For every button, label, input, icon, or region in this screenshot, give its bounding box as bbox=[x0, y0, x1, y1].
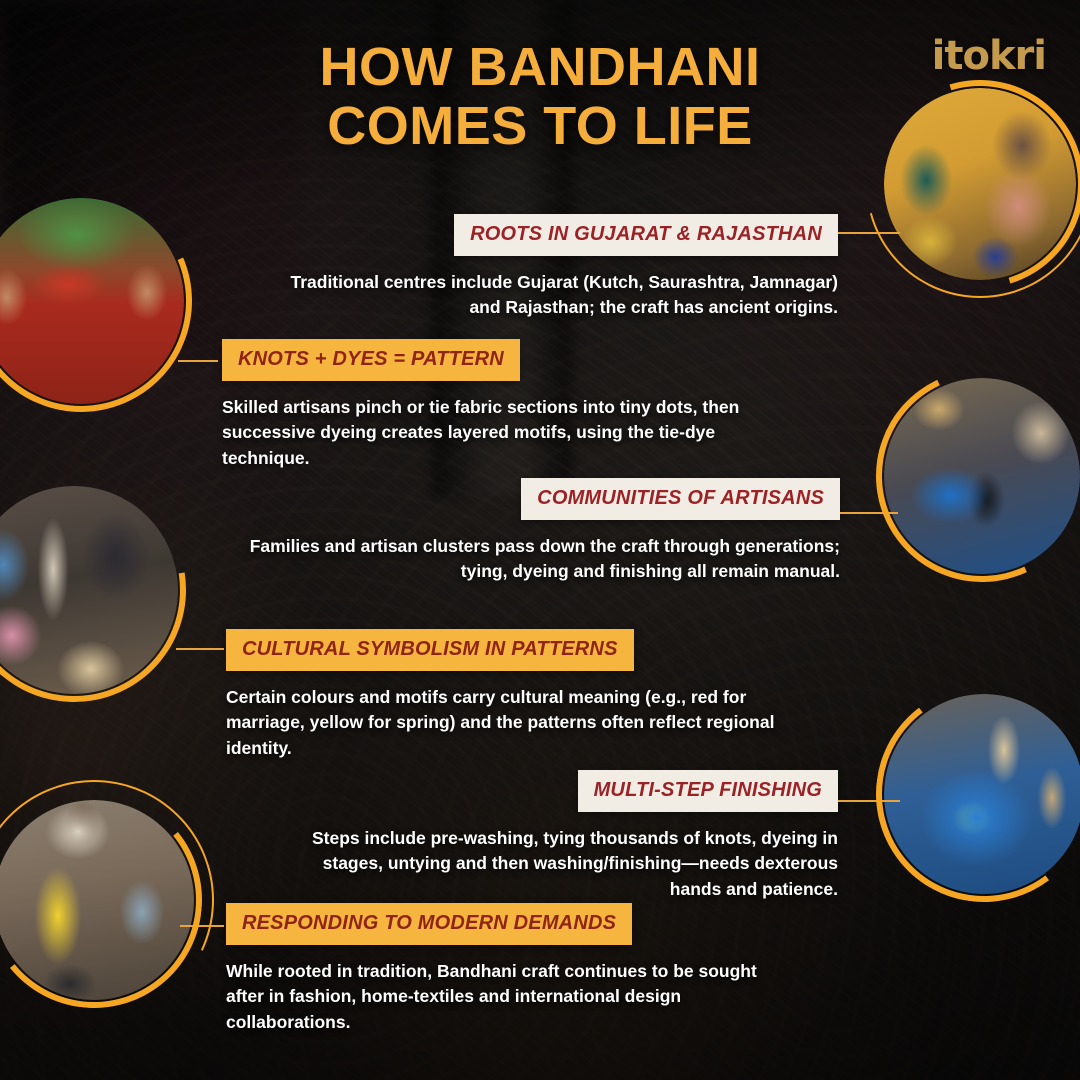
section-6-label[interactable]: RESPONDING TO MODERN DEMANDS bbox=[226, 903, 632, 945]
section-communities-of-artisans: COMMUNITIES OF ARTISANS Families and art… bbox=[240, 478, 840, 585]
women-tying-bandhani-image bbox=[884, 88, 1076, 280]
dyer-lifting-yellow-fabric-image bbox=[0, 800, 194, 1000]
section-4-label[interactable]: CULTURAL SYMBOLISM IN PATTERNS bbox=[226, 629, 634, 671]
dyer-lifting-yellow-fabric-photo bbox=[0, 800, 194, 1000]
section-1-label[interactable]: ROOTS IN GUJARAT & RAJASTHAN bbox=[454, 214, 838, 256]
section-3-body: Families and artisan clusters pass down … bbox=[240, 534, 840, 585]
connector-line-2 bbox=[178, 360, 218, 362]
dyer-blue-vat-photo bbox=[884, 378, 1080, 574]
section-roots-in-gujarat-rajasthan: ROOTS IN GUJARAT & RAJASTHAN Traditional… bbox=[258, 214, 838, 321]
women-tying-bandhani-photo bbox=[884, 88, 1076, 280]
section-1-body: Traditional centres include Gujarat (Kut… bbox=[258, 270, 838, 321]
blue-dye-vat-photo bbox=[884, 694, 1080, 894]
section-6-body: While rooted in tradition, Bandhani craf… bbox=[226, 959, 786, 1035]
section-5-label[interactable]: MULTI-STEP FINISHING bbox=[578, 770, 838, 812]
page-title-line-1: HOW BANDHANI bbox=[320, 37, 761, 97]
connector-line-4 bbox=[176, 648, 224, 650]
hands-tying-red-fabric-photo bbox=[0, 198, 184, 404]
hands-tying-red-fabric-image bbox=[0, 198, 184, 404]
woman-seated-tying-photo bbox=[0, 486, 178, 694]
section-5-body: Steps include pre-washing, tying thousan… bbox=[300, 826, 838, 902]
blue-dye-vat-image bbox=[884, 694, 1080, 894]
connector-line-5 bbox=[838, 800, 900, 802]
connector-line-1 bbox=[838, 232, 900, 234]
section-knots-dyes-pattern: KNOTS + DYES = PATTERN Skilled artisans … bbox=[222, 339, 782, 471]
woman-seated-tying-image bbox=[0, 486, 178, 694]
section-cultural-symbolism-in-patterns: CULTURAL SYMBOLISM IN PATTERNS Certain c… bbox=[226, 629, 796, 761]
section-2-body: Skilled artisans pinch or tie fabric sec… bbox=[222, 395, 782, 471]
section-4-body: Certain colours and motifs carry cultura… bbox=[226, 685, 796, 761]
section-responding-to-modern-demands: RESPONDING TO MODERN DEMANDS While roote… bbox=[226, 903, 786, 1035]
section-3-label[interactable]: COMMUNITIES OF ARTISANS bbox=[521, 478, 840, 520]
section-multi-step-finishing: MULTI-STEP FINISHING Steps include pre-w… bbox=[300, 770, 838, 902]
connector-line-3 bbox=[840, 512, 898, 514]
dyer-blue-vat-image bbox=[884, 378, 1080, 574]
section-2-label[interactable]: KNOTS + DYES = PATTERN bbox=[222, 339, 520, 381]
connector-line-6 bbox=[180, 925, 224, 927]
